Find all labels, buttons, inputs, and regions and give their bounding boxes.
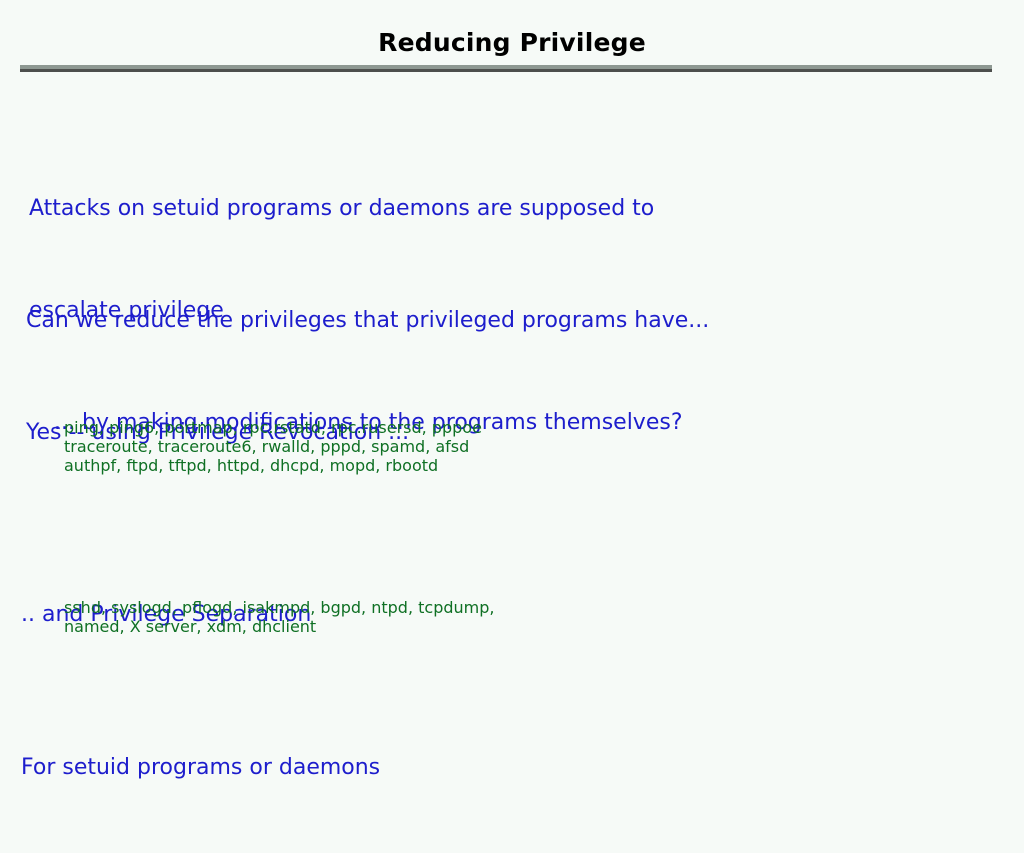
list-separation-programs: sshd, syslogd, pflogd, isakmpd, bgpd, nt… [64,598,494,636]
list-revocation-line-1: ping, ping6, portmap, rpc.rstatd, rpc.ru… [64,418,482,437]
list-separation-line-1: sshd, syslogd, pflogd, isakmpd, bgpd, nt… [64,598,494,617]
list-revocation-line-2: traceroute, traceroute6, rwalld, pppd, s… [64,437,482,456]
list-revocation-line-3: authpf, ftpd, tftpd, httpd, dhcpd, mopd,… [64,456,482,475]
slide-body: Attacks on setuid programs or daemons ar… [0,0,1024,768]
paragraph-attacks-line-1: Attacks on setuid programs or daemons ar… [29,192,654,226]
paragraph-for-setuid-line-1: For setuid programs or daemons [21,751,380,785]
paragraph-reduce-line-1: Can we reduce the privileges that privil… [26,304,709,338]
list-revocation-programs: ping, ping6, portmap, rpc.rstatd, rpc.ru… [64,418,482,475]
list-separation-line-2: named, X server, xdm, dhclient [64,617,494,636]
paragraph-for-setuid: For setuid programs or daemons [21,683,380,853]
slide: Reducing Privilege Attacks on setuid pro… [0,0,1024,768]
